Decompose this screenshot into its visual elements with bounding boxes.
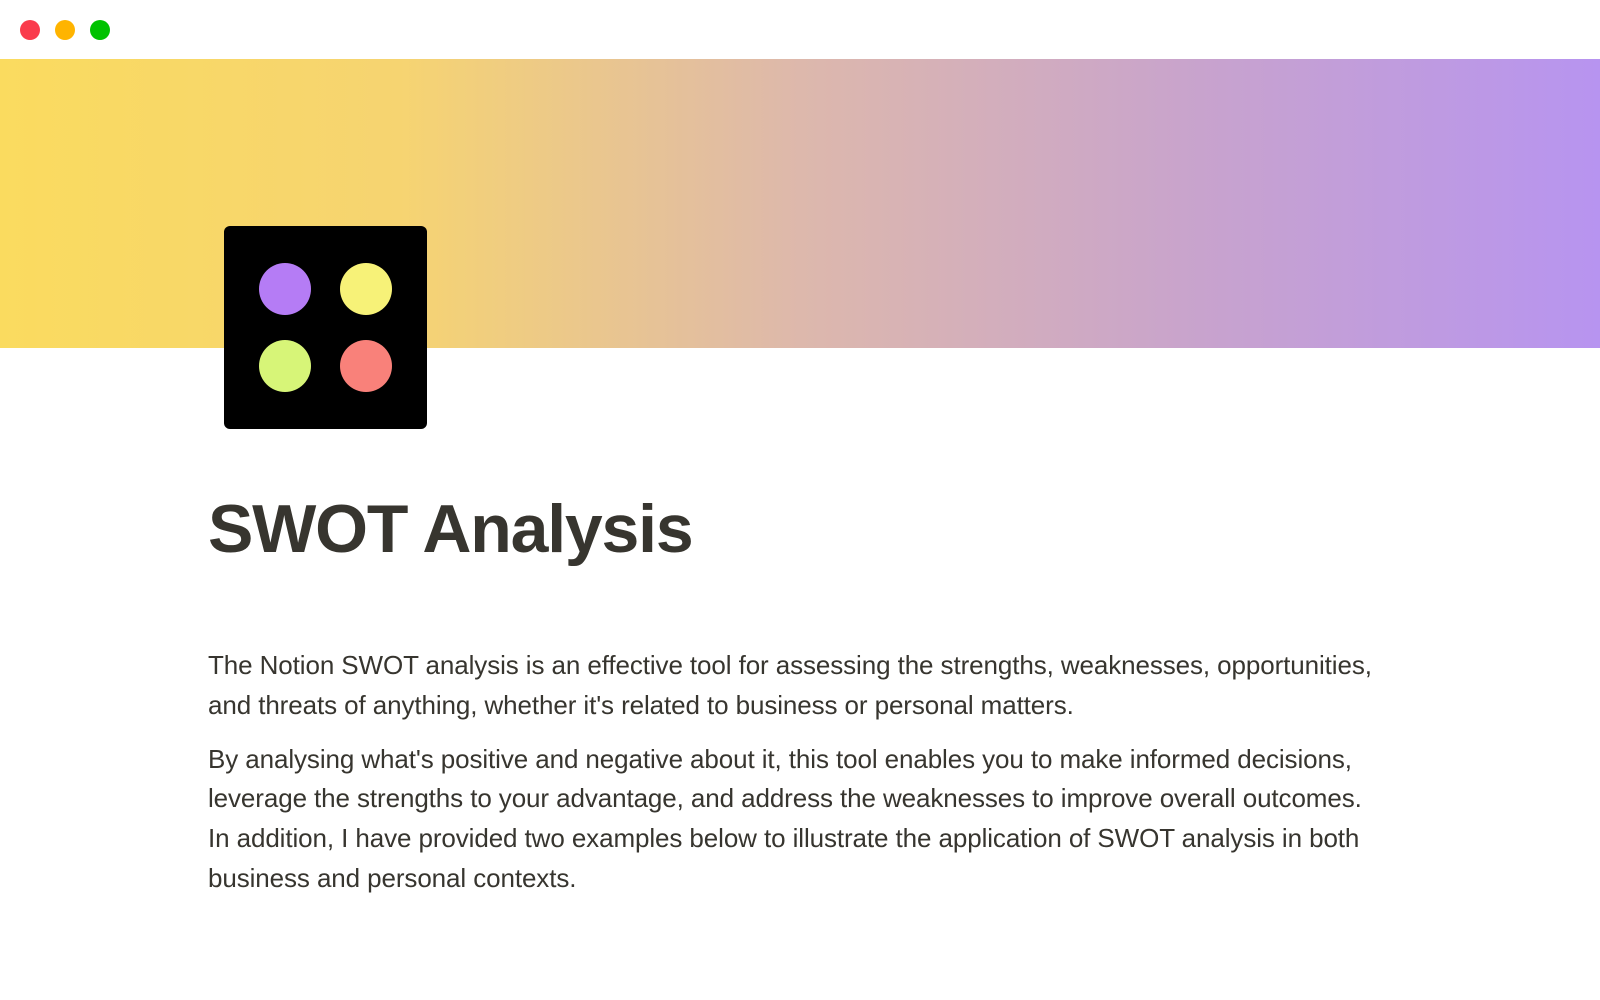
app-window: SWOT Analysis The Notion SWOT analysis i… xyxy=(0,0,1600,1000)
page-title[interactable]: SWOT Analysis xyxy=(208,490,1388,568)
description-paragraph[interactable]: By analysing what's positive and negativ… xyxy=(208,740,1368,899)
close-window-button[interactable] xyxy=(20,20,40,40)
intro-paragraph[interactable]: The Notion SWOT analysis is an effective… xyxy=(208,646,1388,726)
window-controls xyxy=(20,20,110,40)
purple-dot-icon xyxy=(259,263,311,315)
page-icon[interactable] xyxy=(224,226,427,429)
salmon-dot-icon xyxy=(340,340,392,392)
maximize-window-button[interactable] xyxy=(90,20,110,40)
minimize-window-button[interactable] xyxy=(55,20,75,40)
document-content: SWOT Analysis The Notion SWOT analysis i… xyxy=(208,490,1388,899)
window-titlebar xyxy=(0,0,1600,59)
lime-dot-icon xyxy=(259,340,311,392)
yellow-dot-icon xyxy=(340,263,392,315)
